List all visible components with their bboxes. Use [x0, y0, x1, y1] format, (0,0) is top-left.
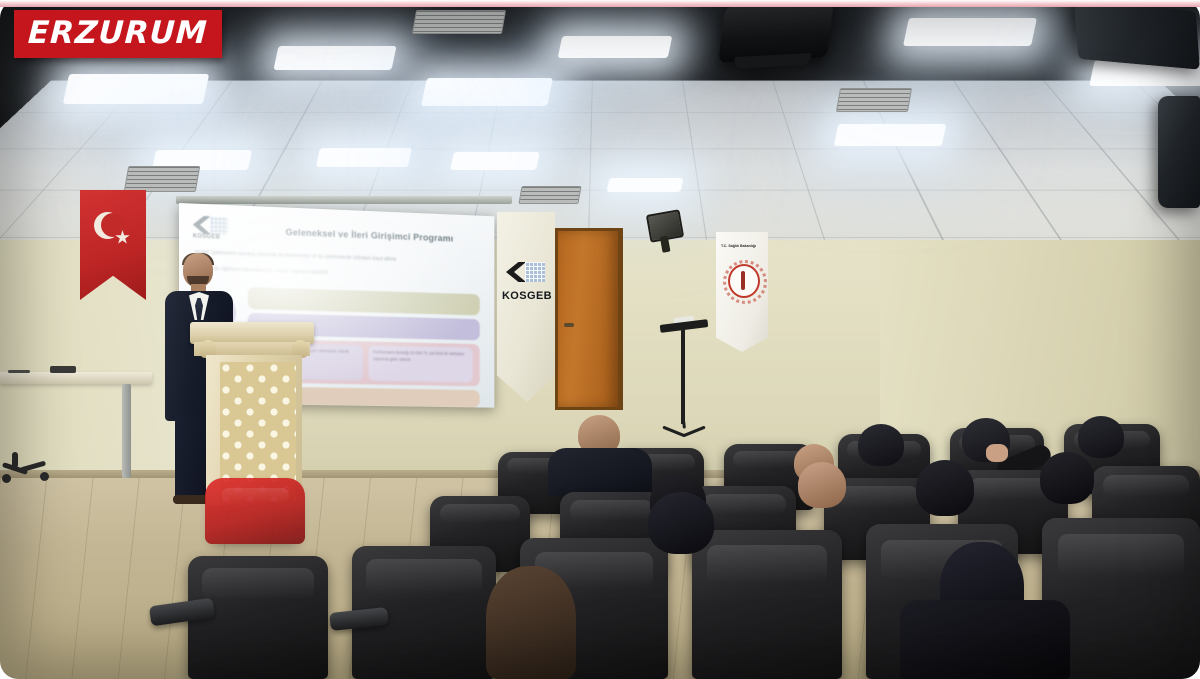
kosgeb-banner: KOSGEB — [497, 212, 555, 402]
attendee-head — [1040, 452, 1094, 504]
attendee-head — [916, 460, 974, 516]
health-ministry-banner: T.C. Sağlık Bakanlığı — [716, 232, 768, 352]
attendee-hand — [986, 444, 1008, 462]
ceiling-vent — [412, 10, 506, 34]
slide-band-olive — [248, 287, 480, 315]
wall-speaker-top-right — [1074, 0, 1200, 69]
table-object — [8, 370, 30, 373]
conference-hall-scene: KOSGEB Geleneksel ve İleri Girişimci Pro… — [0, 0, 1200, 679]
screen-roller — [176, 196, 512, 204]
ceiling-light-panel — [903, 18, 1037, 46]
ceiling-light-panel — [450, 152, 540, 170]
kosgeb-arrow-icon — [193, 216, 211, 235]
health-banner-title: T.C. Sağlık Bakanlığı — [721, 244, 763, 249]
attendee-head — [486, 566, 576, 679]
stand-tripod-foot — [662, 420, 706, 438]
seat-highlight — [202, 568, 314, 600]
ceiling-light-panel — [63, 74, 209, 104]
seat-highlight — [366, 559, 481, 594]
kosgeb-banner-word: KOSGEB — [501, 290, 553, 302]
attendee-head — [1078, 416, 1124, 458]
table-object — [50, 366, 76, 373]
seat-highlight — [1058, 534, 1184, 576]
ceiling-light-panel — [316, 148, 412, 167]
ceiling-vent — [836, 88, 912, 112]
attendee-head — [858, 424, 904, 466]
seat-highlight — [707, 545, 827, 584]
kosgeb-logo: KOSGEB — [193, 216, 228, 243]
kosgeb-banner-logo — [506, 262, 546, 289]
ceiling-light-panel — [607, 178, 684, 192]
slide-minibox-right: Performans desteği 20.000 TL üst limit i… — [369, 345, 473, 382]
ceiling-light-panel — [834, 124, 947, 146]
erzurum-watermark: ERZURUM — [14, 10, 222, 58]
stand-pole — [681, 328, 685, 424]
seat-highlight — [1103, 475, 1189, 497]
wooden-door[interactable] — [555, 228, 623, 410]
ceiling-light-panel — [273, 46, 396, 70]
kosgeb-logo-word: KOSGEB — [193, 234, 220, 241]
auditorium-seat — [692, 530, 842, 679]
seat-highlight — [702, 494, 785, 515]
seat-highlight — [440, 504, 520, 524]
seat-highlight — [221, 488, 290, 503]
door-handle[interactable] — [564, 323, 574, 327]
ceiling-vent — [518, 186, 581, 204]
health-emblem-icon — [728, 264, 760, 298]
kosgeb-grid-icon — [210, 216, 228, 235]
kosgeb-arrow-icon — [506, 262, 526, 282]
ceiling-light-panel — [558, 36, 673, 58]
attendee-head — [798, 462, 846, 508]
attendee-shoulders — [900, 600, 1070, 679]
seat-highlight — [570, 500, 653, 521]
office-chair — [2, 452, 58, 482]
attendee-shoulders — [548, 448, 652, 496]
side-table — [0, 372, 152, 384]
auditorium-seat — [212, 482, 298, 540]
crescent-icon — [94, 212, 121, 239]
attendee-head — [648, 492, 714, 554]
music-stand — [660, 322, 708, 442]
watermark-label: ERZURUM — [27, 18, 208, 49]
table-leg — [122, 384, 131, 478]
photo-canvas: KOSGEB Geleneksel ve İleri Girişimci Pro… — [0, 0, 1200, 679]
ceiling-projector — [718, 1, 834, 63]
wall-speaker-right — [1158, 96, 1200, 208]
seat-highlight — [835, 486, 920, 507]
ceiling-vent — [124, 166, 201, 192]
floodlight — [646, 209, 684, 242]
kosgeb-grid-icon — [525, 262, 545, 282]
ceiling-light-panel — [421, 78, 553, 106]
slide-title: Geleneksel ve İleri Girişimci Programı — [256, 226, 482, 245]
